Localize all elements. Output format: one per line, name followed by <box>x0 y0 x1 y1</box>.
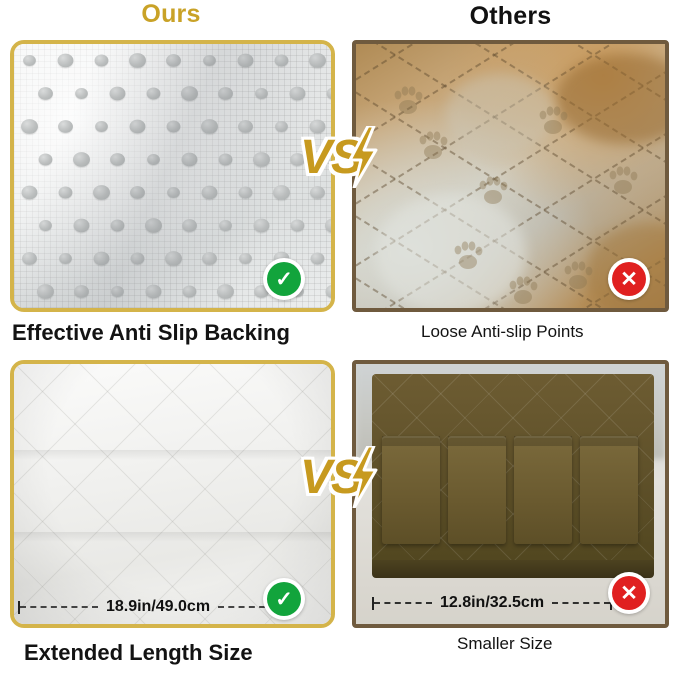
measurement-ours: 18.9in/49.0cm <box>18 598 298 616</box>
caption-ours-bottom: Extended Length Size <box>24 640 253 666</box>
measurement-others: 12.8in/32.5cm <box>372 594 612 612</box>
paw-print-icon <box>606 164 640 198</box>
organizer-pocket-1 <box>382 436 440 544</box>
comparison-infographic: Ours Others VS <box>0 0 679 674</box>
lightning-bolt-icon <box>348 446 378 508</box>
paw-print-icon <box>451 239 485 273</box>
paw-print-icon <box>416 129 450 163</box>
check-icon: ✓ <box>267 582 301 616</box>
organizer-pocket-2 <box>448 436 506 544</box>
check-icon: ✓ <box>267 262 301 296</box>
measurement-value-ours: 18.9in/49.0cm <box>98 598 218 616</box>
paw-print-icon <box>536 104 570 138</box>
vs-badge-bottom: VS <box>300 450 362 505</box>
status-badge-cross-bottom: ✕ <box>608 572 650 614</box>
caption-others-bottom: Smaller Size <box>457 634 552 654</box>
measure-line-left <box>20 606 98 608</box>
paw-print-icon <box>476 174 510 208</box>
heading-others: Others <box>342 2 679 31</box>
paw-print-icon <box>391 84 425 118</box>
paw-print-icon <box>561 259 595 293</box>
measurement-value-others: 12.8in/32.5cm <box>432 594 552 612</box>
measure-line-right <box>552 602 610 604</box>
organizer-pocket-4 <box>580 436 638 544</box>
close-icon: ✕ <box>612 576 646 610</box>
vs-badge-top: VS <box>300 130 362 185</box>
status-badge-cross-top: ✕ <box>608 258 650 300</box>
measure-line-left <box>374 602 432 604</box>
close-icon: ✕ <box>612 262 646 296</box>
organizer-base-strip <box>372 560 654 578</box>
caption-others-top: Loose Anti-slip Points <box>421 322 584 342</box>
lightning-bolt-icon <box>348 126 378 188</box>
heading-ours: Ours <box>0 0 342 29</box>
paw-print-icon <box>506 274 540 308</box>
status-badge-check-bottom: ✓ <box>263 578 305 620</box>
brown-organizer <box>372 374 654 566</box>
status-badge-check-top: ✓ <box>263 258 305 300</box>
caption-ours-top: Effective Anti Slip Backing <box>12 320 290 346</box>
organizer-pocket-3 <box>514 436 572 544</box>
